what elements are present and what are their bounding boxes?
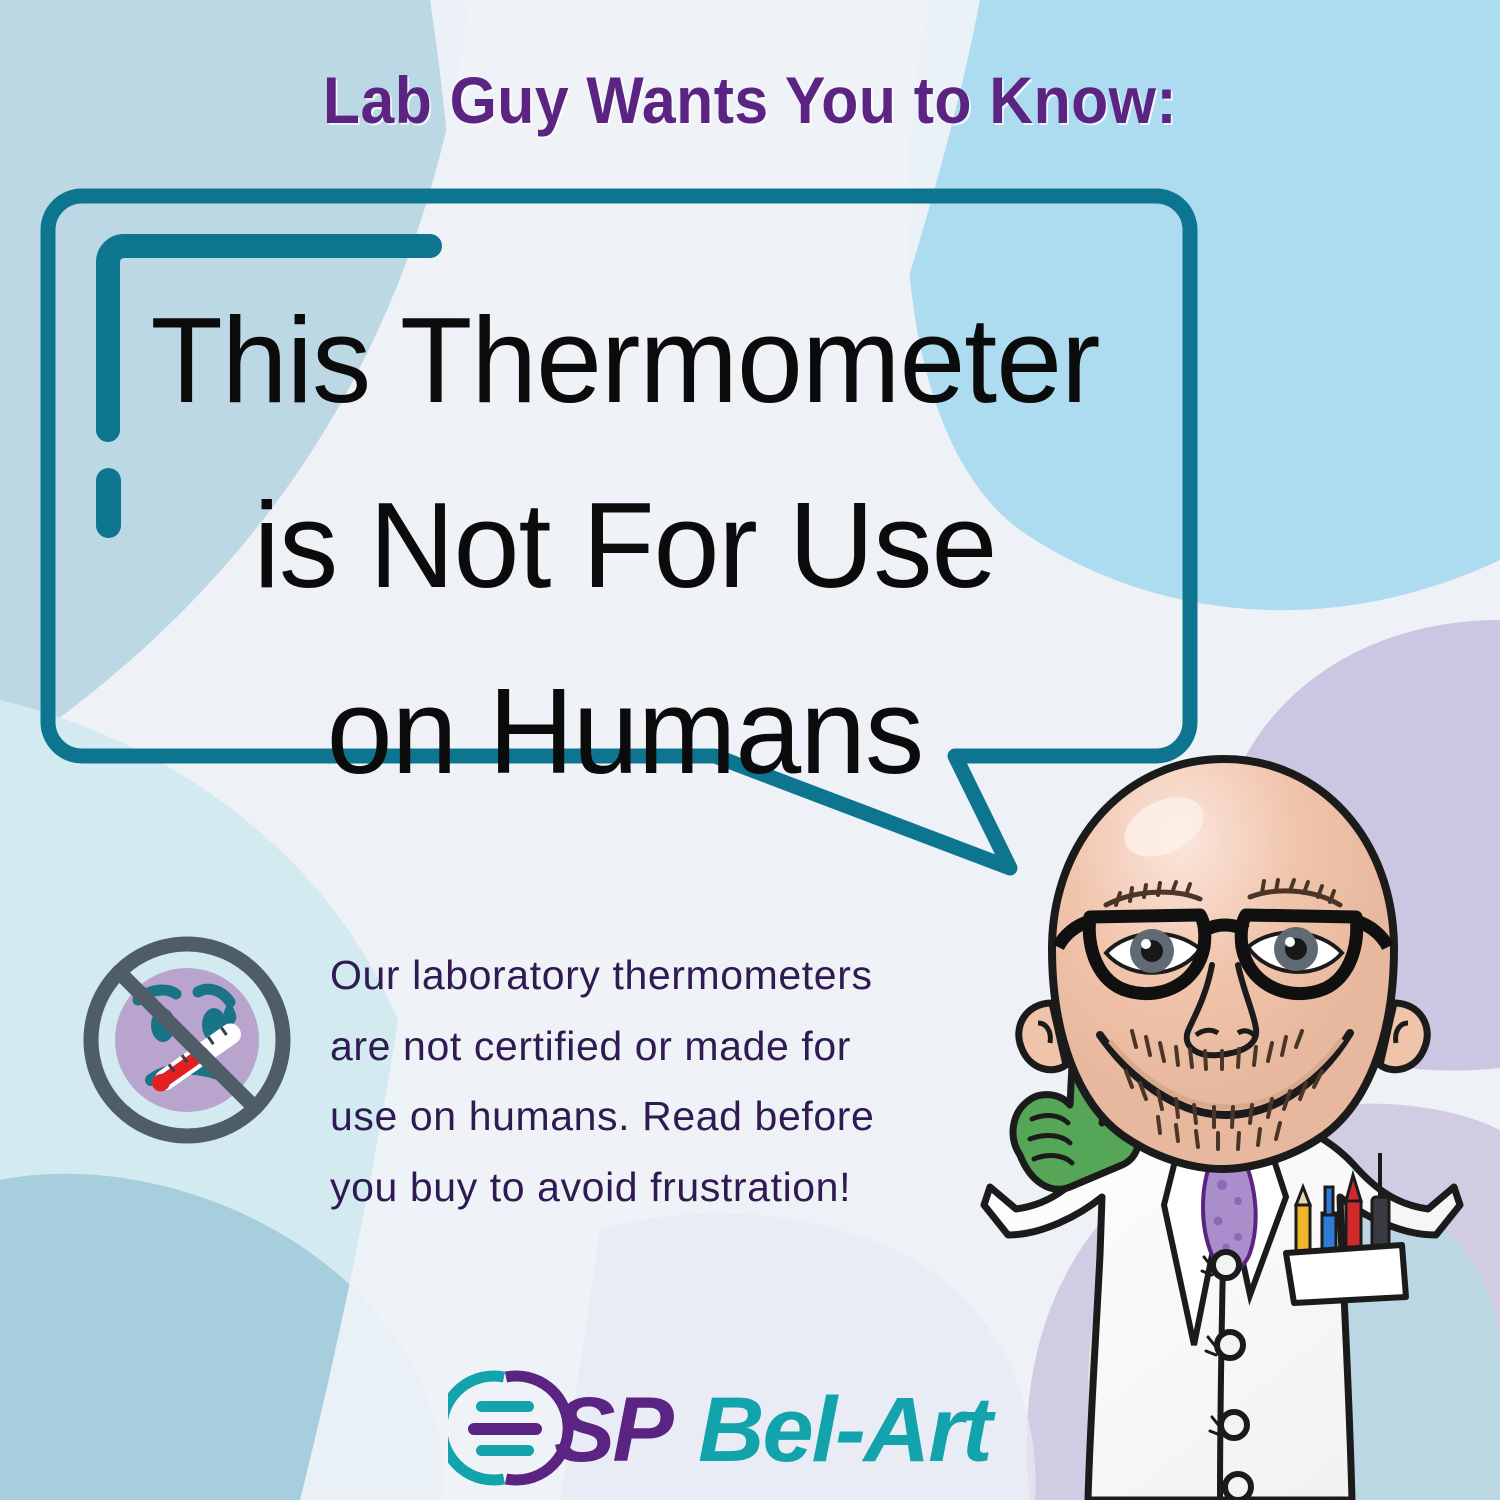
no-use-on-humans-icon bbox=[72, 928, 302, 1158]
body-line-1: Our laboratory thermometers bbox=[330, 940, 940, 1011]
page-title: Lab Guy Wants You to Know: bbox=[60, 62, 1440, 138]
poster-canvas: Lab Guy Wants You to Know: This Thermome… bbox=[0, 0, 1500, 1500]
logo-sp-text: SP bbox=[554, 1379, 674, 1481]
body-line-4: you buy to avoid frustration! bbox=[330, 1152, 940, 1223]
logo-belart-text: Bel-Art bbox=[698, 1379, 996, 1481]
body-line-3: use on humans. Read before bbox=[330, 1081, 940, 1152]
body-line-2: are not certified or made for bbox=[330, 1011, 940, 1082]
sp-bel-art-logo: SP Bel-Art bbox=[448, 1365, 1058, 1490]
dna-circle-mark bbox=[448, 1376, 568, 1480]
body-paragraph: Our laboratory thermometers are not cert… bbox=[330, 940, 940, 1222]
pipette-icon bbox=[1372, 1153, 1389, 1253]
bubble-line-2: is Not For Use bbox=[135, 453, 1115, 638]
bubble-line-1: This Thermometer bbox=[135, 268, 1115, 453]
